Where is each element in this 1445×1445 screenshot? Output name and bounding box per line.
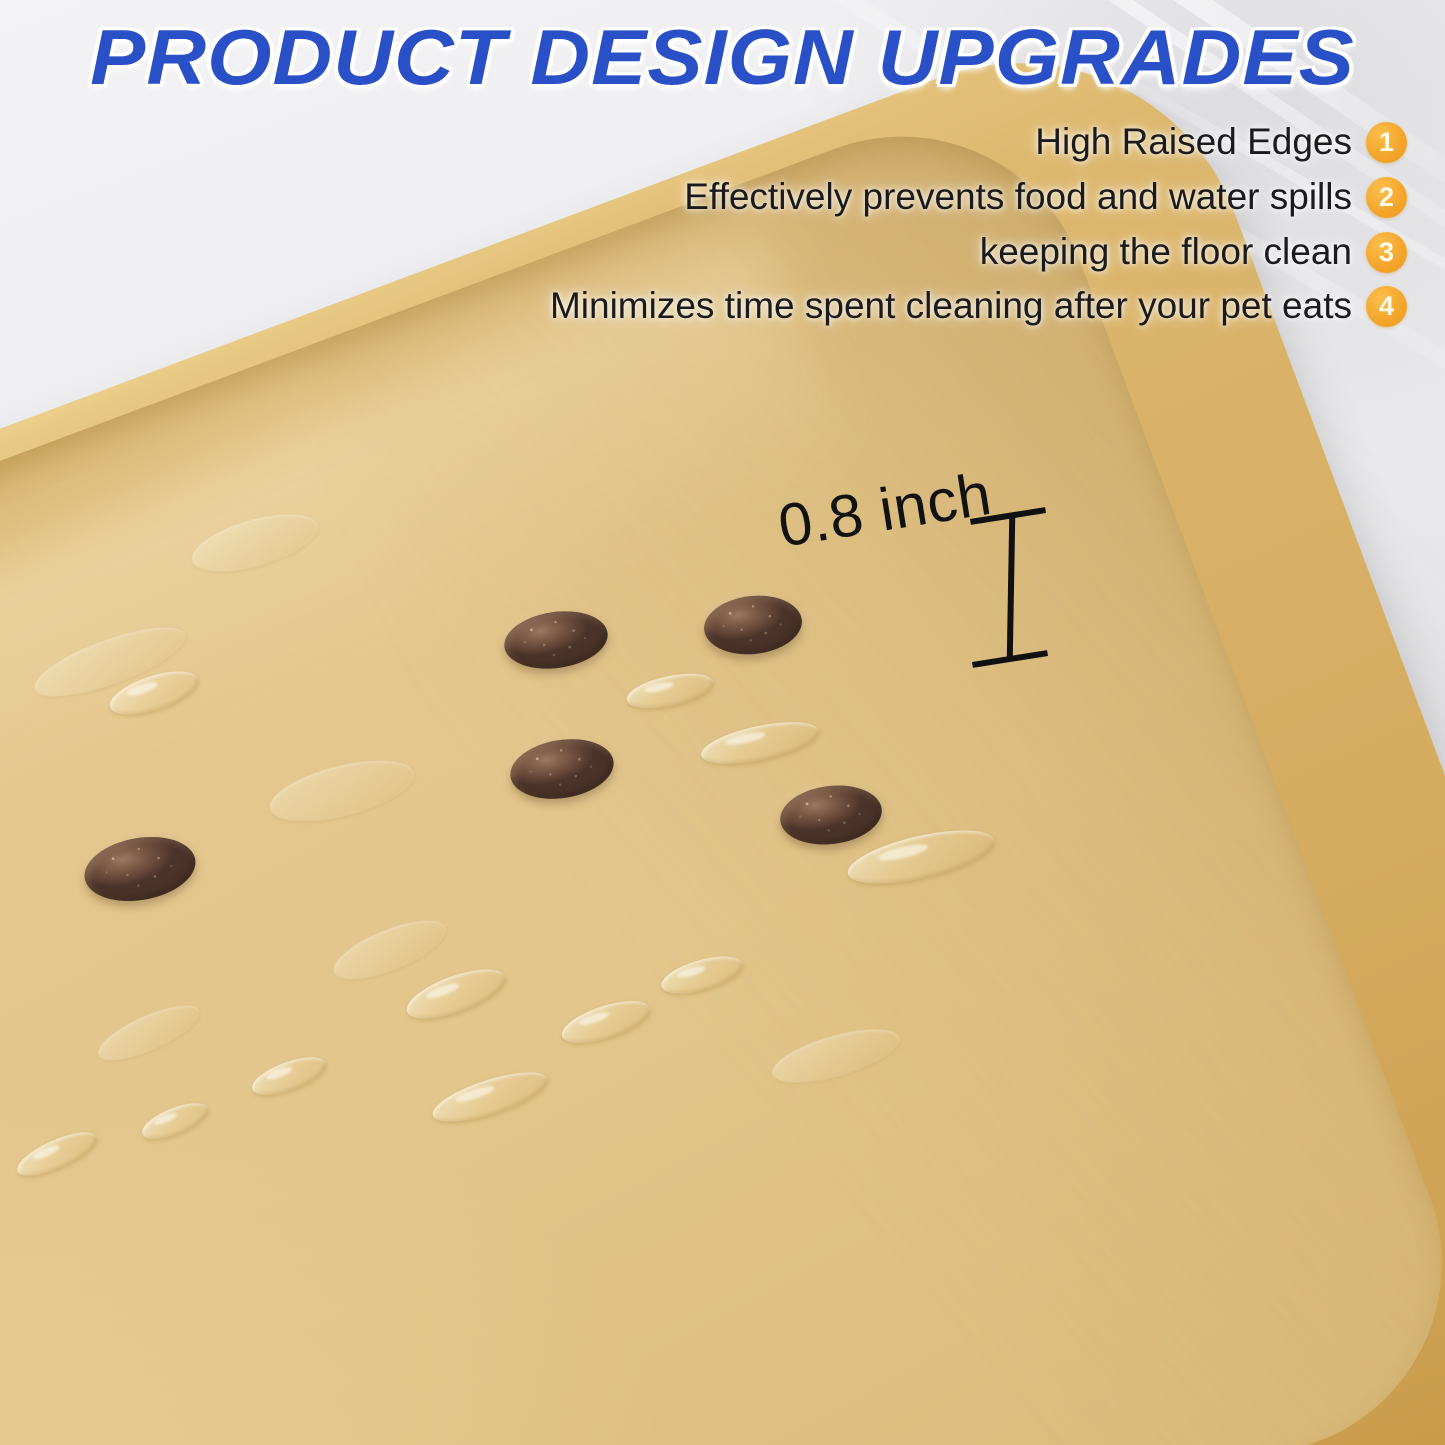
feature-label: keeping the floor clean: [980, 228, 1352, 277]
feature-label: Effectively prevents food and water spil…: [684, 173, 1352, 222]
feature-item: High Raised Edges 1: [307, 118, 1407, 167]
feature-list: High Raised Edges 1 Effectively prevents…: [307, 118, 1407, 331]
feature-label: Minimizes time spent cleaning after your…: [550, 282, 1352, 331]
i-beam-stem: [1007, 516, 1016, 660]
product-feature-image: 0.8 inch PRODUCT DESIGN UPGRADES High Ra…: [0, 0, 1445, 1445]
feature-number-badge: 3: [1366, 232, 1407, 273]
feature-item: keeping the floor clean 3: [307, 228, 1407, 277]
feature-number-badge: 4: [1366, 286, 1407, 327]
i-beam-top-cap: [970, 507, 1046, 525]
feature-item: Minimizes time spent cleaning after your…: [307, 282, 1407, 331]
page-title: PRODUCT DESIGN UPGRADES: [0, 18, 1445, 96]
dimension-i-beam-icon: [960, 500, 1070, 675]
feature-label: High Raised Edges: [1035, 118, 1352, 167]
feature-number-badge: 2: [1366, 177, 1407, 218]
feature-number-badge: 1: [1366, 122, 1407, 163]
feature-item: Effectively prevents food and water spil…: [307, 173, 1407, 222]
